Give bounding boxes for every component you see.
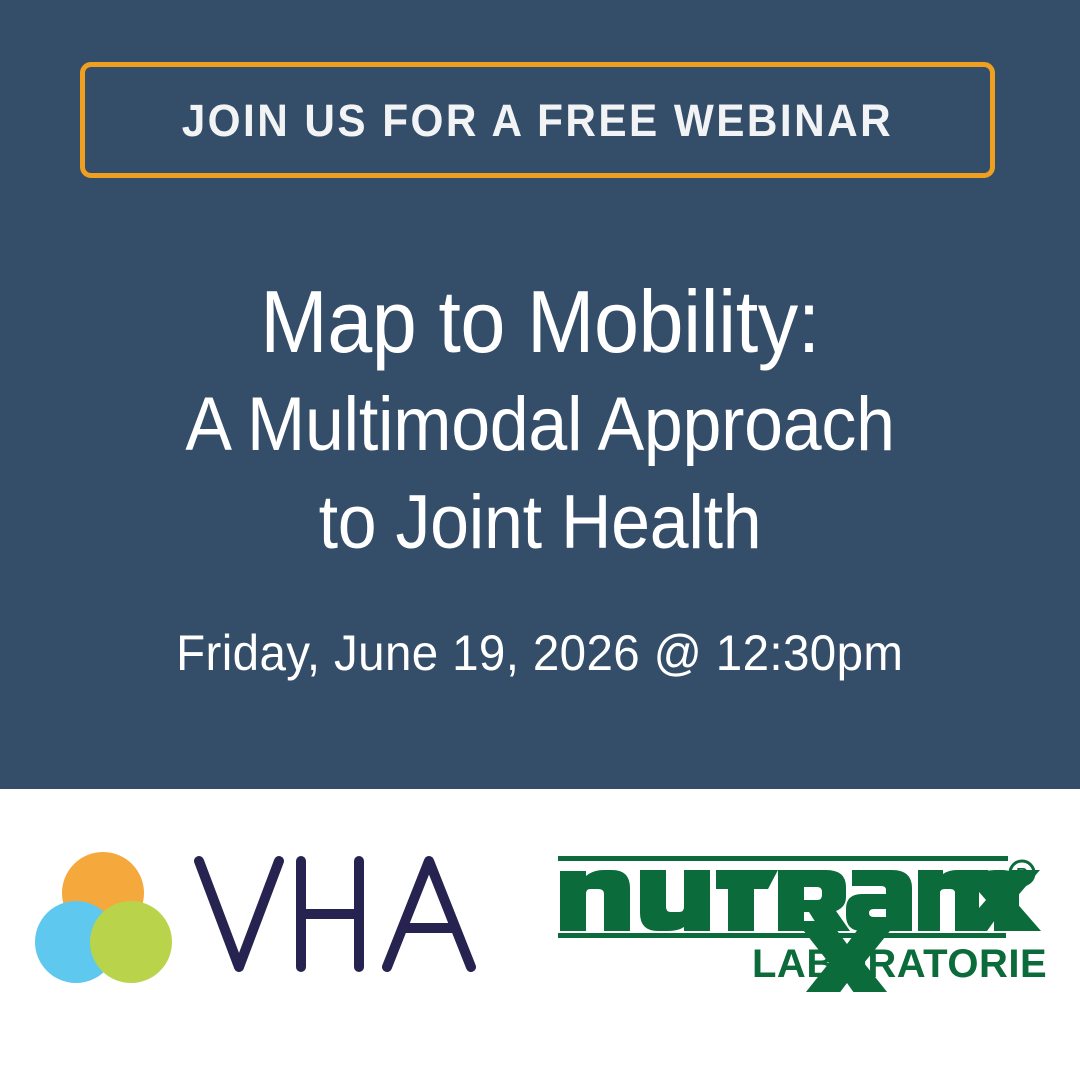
nutramax-logo: R LABORATORIES nuTRamax LABORATORIES — [556, 847, 1046, 992]
nutramax-logo-mark: R LABORATORIES — [556, 847, 1046, 992]
page-title-line-1: Map to Mobility: — [43, 268, 1037, 376]
hero-panel: JOIN US FOR A FREE WEBINAR Map to Mobili… — [0, 0, 1080, 789]
nutramax-logo-tagline: LABORATORIES — [1046, 847, 1047, 848]
event-datetime-text: Friday, June 19, 2026 @ 12:30pm — [176, 622, 903, 684]
vha-circles-icon — [33, 847, 173, 987]
event-datetime: Friday, June 19, 2026 @ 12:30pm — [0, 622, 1080, 684]
nutramax-logo-name: nuTRamax — [1046, 847, 1047, 848]
page-title-line-2: A Multimodal Approach — [43, 376, 1037, 474]
eyebrow-banner: JOIN US FOR A FREE WEBINAR — [80, 62, 995, 178]
webinar-promo-poster: JOIN US FOR A FREE WEBINAR Map to Mobili… — [0, 0, 1080, 1080]
eyebrow-label: JOIN US FOR A FREE WEBINAR — [182, 98, 893, 143]
vha-wordmark — [191, 851, 501, 979]
page-title: Map to Mobility: A Multimodal Approach t… — [0, 268, 1080, 572]
nutramax-tagline-text: LABORATORIES — [752, 942, 1046, 986]
vha-logo: VHA — [33, 847, 503, 992]
logo-strip: VHA — [0, 789, 1080, 1080]
page-title-line-3: to Joint Health — [43, 474, 1037, 572]
svg-text:R: R — [1016, 866, 1028, 883]
